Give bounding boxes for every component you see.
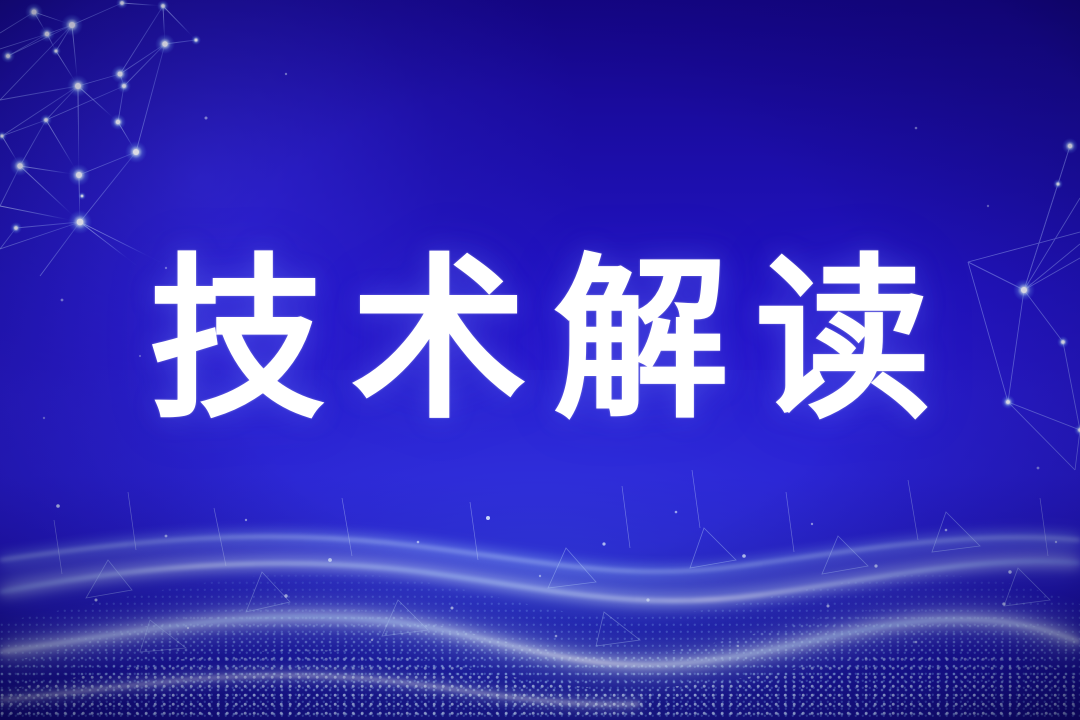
title-container: 技术解读 [0, 248, 1080, 435]
page-title: 技术解读 [123, 248, 957, 435]
technology-banner: 技术解读 [0, 0, 1080, 720]
